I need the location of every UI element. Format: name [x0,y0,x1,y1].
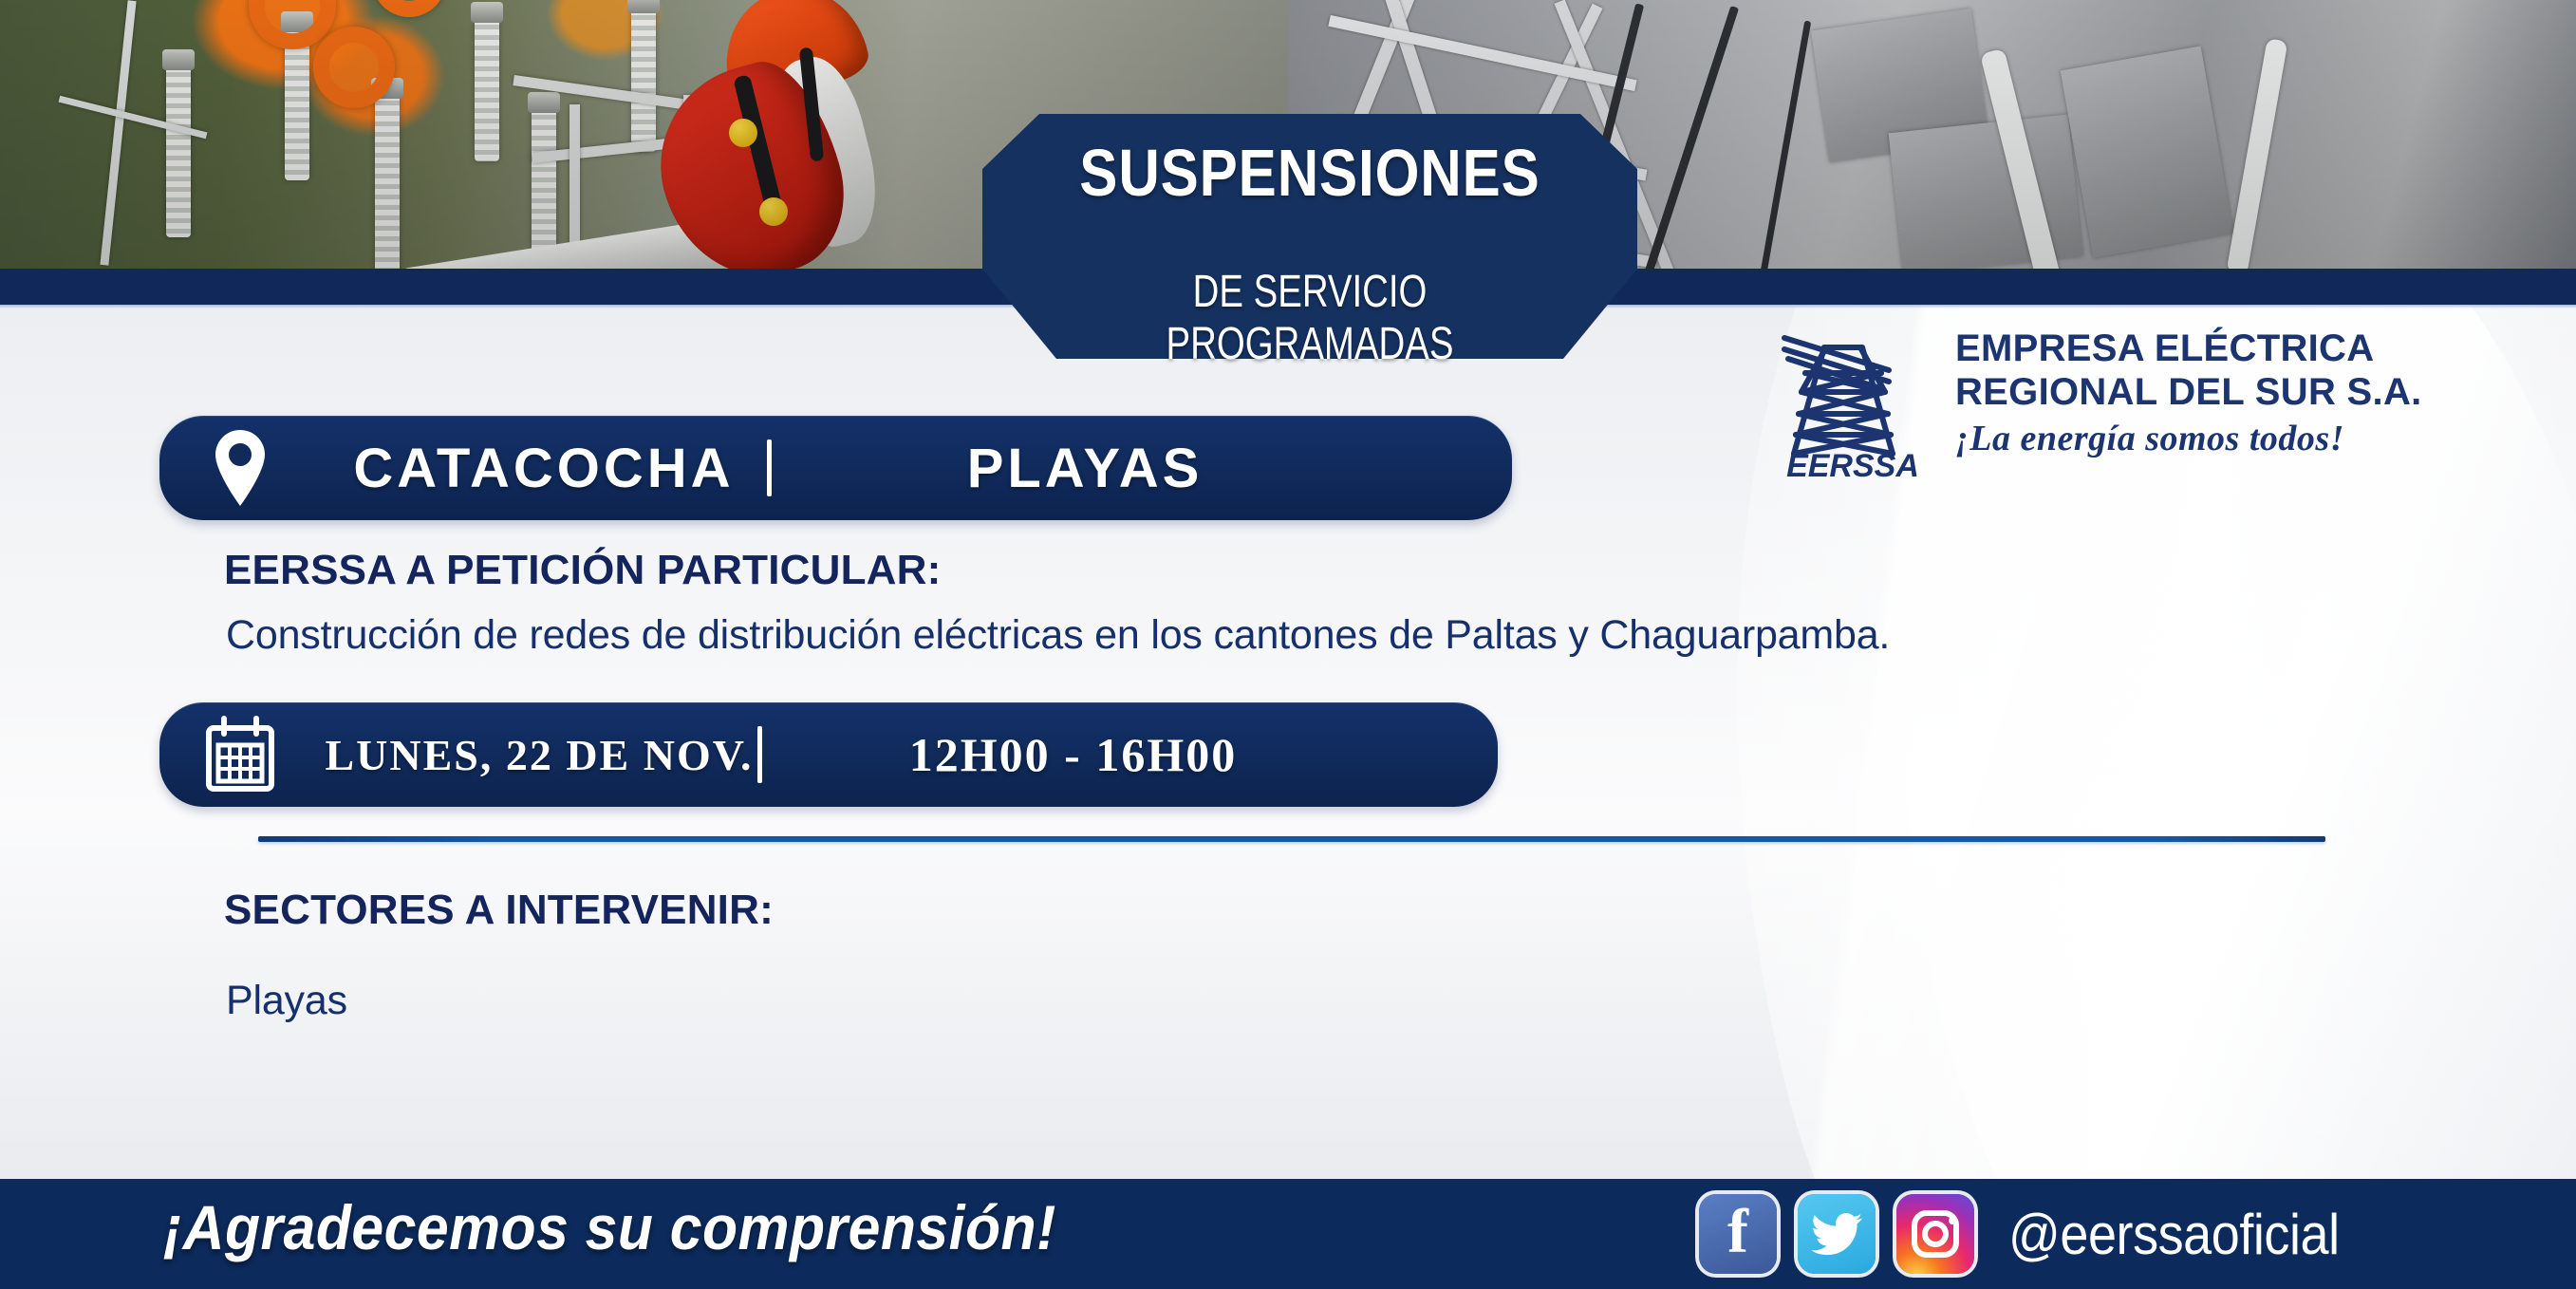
suspension-date: LUNES, 22 DE NOV. [321,730,757,780]
map-pin-icon [159,427,321,509]
social-links: @eerssaoficial [1699,1194,2376,1274]
twitter-icon[interactable] [1798,1194,1876,1274]
location-pill: CATACOCHA PLAYAS [159,416,1512,520]
facebook-icon[interactable] [1699,1194,1777,1274]
banner-subtitle: DE SERVICIO PROGRAMADAS [1048,266,1572,370]
date-time-pill: LUNES, 22 DE NOV. 12H00 - 16H00 [159,702,1498,807]
sectors-text: Playas [226,978,347,1024]
eerssa-logo: EERSSA EMPRESA ELÉCTRICA REGIONAL DEL SU… [1767,321,2432,482]
instagram-icon[interactable] [1896,1194,1974,1274]
transmission-tower-icon: EERSSA [1767,321,1938,482]
banner-title: SUSPENSIONES [1028,135,1591,211]
svg-text:EERSSA: EERSSA [1786,448,1919,482]
social-handle[interactable]: @eerssaoficial [2008,1202,2340,1267]
logo-wordmark: EMPRESA ELÉCTRICA REGIONAL DEL SUR S.A. … [1955,327,2430,459]
logo-line-2: REGIONAL DEL SUR S.A. [1955,370,2430,414]
reason-heading: EERSSA A PETICIÓN PARTICULAR: [224,547,941,594]
footer-slogan: ¡Agradecemos su comprensión! [163,1191,1056,1263]
calendar-icon [159,715,321,794]
logo-line-1: EMPRESA ELÉCTRICA [1955,327,2430,370]
sectors-heading: SECTORES A INTERVENIR: [224,887,774,934]
suspension-time: 12H00 - 16H00 [762,727,1498,782]
logo-slogan: ¡La energía somos todos! [1955,418,2430,459]
suspension-notice-poster: SUSPENSIONES DE SERVICIO PROGRAMADAS [0,0,2576,1289]
reason-text: Construcción de redes de distribución el… [226,612,1890,659]
location-sector: PLAYAS [772,437,1512,500]
section-divider [258,836,2325,842]
location-canton: CATACOCHA [321,437,767,500]
